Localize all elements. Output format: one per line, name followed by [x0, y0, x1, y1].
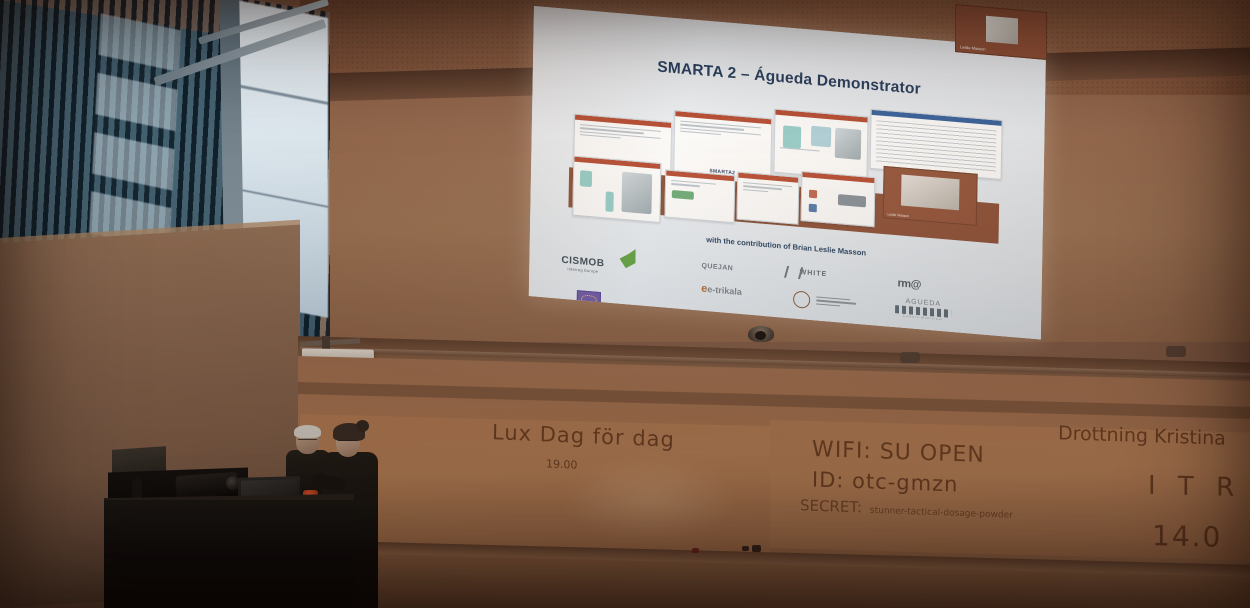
- logo-quejan: QUEJAN: [702, 263, 734, 273]
- thumbnail-tile: [572, 156, 661, 223]
- leaf-icon: [619, 248, 635, 269]
- whiteboard-light-glare: [560, 455, 740, 545]
- logo-cismob: CISMOB Interreg Europe: [561, 255, 604, 275]
- glasses-icon: [338, 440, 358, 445]
- handwriting-code: I T R: [1148, 471, 1241, 503]
- hair: [294, 425, 321, 438]
- handwriting-lux-time: 19.00: [546, 457, 578, 471]
- handwriting-wifi-id: ID: otc-gmzn: [812, 467, 959, 496]
- whiteboard-marker: [692, 548, 699, 553]
- video-participant-name: Leslie Masson: [887, 212, 909, 218]
- thumbnail-tile: [664, 169, 735, 223]
- circular-seal-icon: [793, 290, 810, 308]
- logo-white: WHITE: [800, 269, 828, 278]
- podium: [104, 500, 354, 608]
- participant-video-thumbnail: [986, 16, 1018, 45]
- logo-rmo: rm@: [897, 277, 921, 291]
- logo-agueda: AGUEDA Camara Municipal: [895, 297, 951, 322]
- v-mark-icon: [784, 266, 803, 279]
- partner-logo-lines: [813, 294, 859, 310]
- thumbnail-tile: [801, 171, 876, 227]
- whiteboard-marker: [752, 545, 761, 552]
- dome-camera-icon: [748, 326, 774, 342]
- ceiling-speaker: [1166, 346, 1186, 357]
- glasses-icon: [298, 439, 317, 444]
- video-participant-tile: Leslie Masson: [883, 166, 978, 226]
- participant-label: Leslie Masson: [960, 44, 986, 51]
- thumbnail-tile: [736, 172, 799, 225]
- whiteboard-marker: [742, 546, 749, 551]
- thumbnail-tile: [773, 109, 868, 181]
- lecture-hall-photo: SMARTA 2 – Águeda Demonstrator SMARTA2 S…: [0, 0, 1250, 608]
- hair-bun: [356, 420, 369, 432]
- ceiling-speaker: [900, 352, 920, 363]
- handwriting-time: 14.0: [1152, 519, 1222, 554]
- logo-etrikala: ee-trikala: [701, 283, 742, 298]
- video-call-panel: Leslie Masson: [955, 4, 1047, 60]
